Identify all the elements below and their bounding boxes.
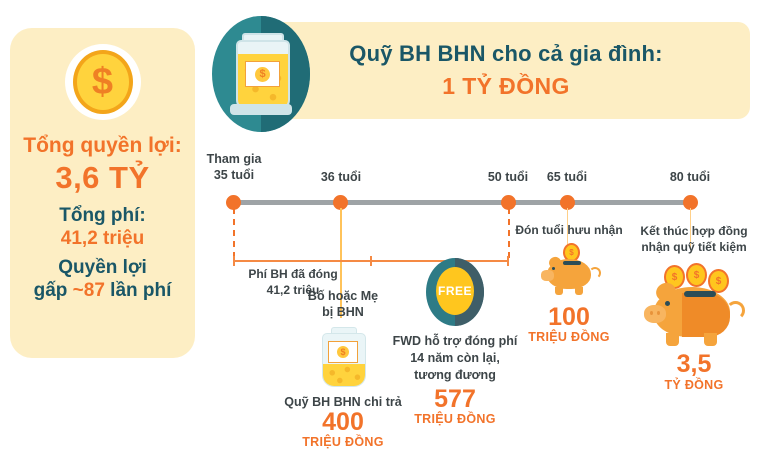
timeline-join-prefix: Tham gia [203, 152, 265, 168]
money-jar-icon: $ [212, 16, 310, 132]
ratio-highlight: ~87 [73, 280, 105, 301]
connector-50 [508, 208, 510, 258]
callout-free-line3: tương đương [385, 367, 525, 384]
header-title-line2: 1 TỶ ĐỒNG [442, 73, 570, 100]
callout-80-value: 3,5 [630, 351, 757, 377]
piggy-bank-icon: $ [539, 243, 599, 299]
free-badge-text: FREE [436, 267, 474, 315]
callout-65-value: 100 [513, 304, 625, 330]
infographic-canvas: $ Tổng quyền lợi: 3,6 TỶ Tổng phí: 41,2 … [0, 0, 757, 476]
callout-node-80: Kết thúc hợp đồng nhận quỹ tiết kiệm $ $… [630, 223, 757, 392]
total-benefit-panel: $ Tổng quyền lợi: 3,6 TỶ Tổng phí: 41,2 … [10, 28, 195, 358]
fee-bracket-line1: Phí BH đã đóng [218, 266, 368, 282]
fee-value: 41,2 triệu [10, 228, 195, 250]
callout-80-title-line2: nhận quỹ tiết kiệm [630, 239, 757, 255]
callout-free-support: FREE FWD hỗ trợ đóng phí 14 năm còn lại,… [385, 258, 525, 426]
callout-free-line1: FWD hỗ trợ đóng phí [385, 333, 525, 350]
callout-80-unit: TỶ ĐỒNG [630, 378, 757, 392]
callout-80-title-line1: Kết thúc hợp đồng [630, 223, 757, 239]
timeline-label-50: 50 tuổi [477, 170, 539, 184]
free-badge-icon: FREE [426, 258, 484, 326]
benefit-value: 3,6 TỶ [10, 160, 195, 196]
ratio-suffix: lần phí [105, 280, 172, 301]
piggy-bank-large-icon: $ $ $ [642, 263, 746, 347]
timeline-label-80: 80 tuổi [659, 170, 721, 184]
callout-65-title: Đón tuổi hưu nhận [513, 223, 625, 237]
dollar-coin-icon: $ [65, 44, 141, 120]
timeline-axis [231, 200, 692, 205]
callout-free-line2: 14 năm còn lại, [385, 350, 525, 367]
timeline-label-65: 65 tuổi [536, 170, 598, 184]
connector-35 [233, 208, 235, 258]
benefit-title: Tổng quyền lợi: [10, 134, 195, 158]
ratio-prefix: gấp [34, 280, 73, 301]
money-jar-small-icon: $ [316, 327, 370, 391]
callout-65-unit: TRIỆU ĐỒNG [513, 330, 625, 344]
timeline-label-35: Tham gia 35 tuổi [203, 152, 265, 183]
callout-free-unit: TRIỆU ĐỒNG [385, 412, 525, 426]
timeline-age-35: 35 tuổi [203, 168, 265, 184]
callout-free-value: 577 [385, 386, 525, 412]
header-banner: Quỹ BH BHN cho cả gia đình: 1 TỶ ĐỒNG [262, 22, 750, 119]
ratio-line-2: gấp ~87 lần phí [10, 280, 195, 302]
callout-36-payout-unit: TRIỆU ĐỒNG [268, 435, 418, 449]
callout-node-65: Đón tuổi hưu nhận $ 100 TRIỆU ĐỒNG [513, 223, 625, 344]
fee-title: Tổng phí: [10, 205, 195, 227]
callout-free-text: FWD hỗ trợ đóng phí 14 năm còn lại, tươn… [385, 333, 525, 384]
timeline-label-36: 36 tuổi [310, 170, 372, 184]
header-title-line1: Quỹ BH BHN cho cả gia đình: [349, 41, 662, 67]
ratio-line-1: Quyền lợi [10, 257, 195, 279]
